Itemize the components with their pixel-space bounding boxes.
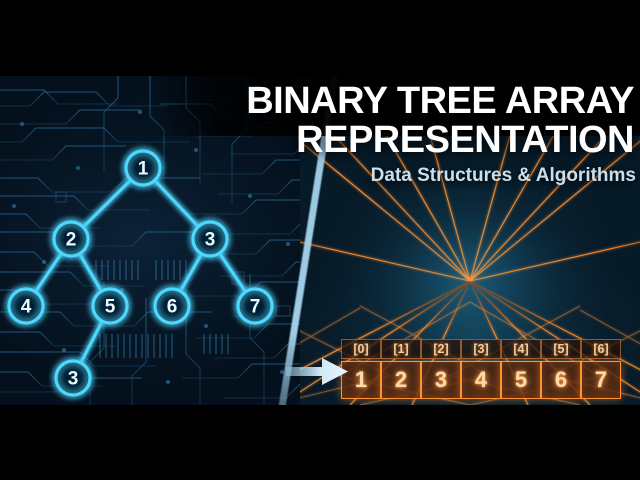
tree-node[interactable]: 4 bbox=[9, 289, 43, 323]
tree-edge bbox=[79, 253, 102, 292]
array-index-cell: [6] bbox=[581, 339, 621, 359]
page-title-line-2: REPRESENTATION bbox=[150, 121, 636, 160]
page-title-line-1: BINARY TREE ARRAY bbox=[150, 82, 636, 121]
title-block: BINARY TREE ARRAY REPRESENTATION Data St… bbox=[150, 82, 636, 188]
tree-edges bbox=[35, 179, 246, 364]
tree-node[interactable]: 7 bbox=[238, 289, 272, 323]
array-value-cell[interactable]: 6 bbox=[541, 361, 581, 399]
thumbnail-canvas: 12345673 bbox=[0, 0, 640, 480]
array-index-row: [0][1][2][3][4][5][6] bbox=[341, 339, 621, 359]
tree-node-label: 3 bbox=[205, 230, 216, 251]
right-arrow-icon bbox=[286, 354, 350, 388]
array-index-cell: [2] bbox=[421, 339, 461, 359]
tree-node-label: 6 bbox=[167, 297, 178, 318]
tree-edge bbox=[180, 253, 202, 292]
tree-node[interactable]: 6 bbox=[155, 289, 189, 323]
tree-node[interactable]: 3 bbox=[193, 222, 227, 256]
tree-edge bbox=[219, 252, 246, 292]
letterbox-top bbox=[0, 0, 640, 76]
tree-node-label: 2 bbox=[66, 230, 77, 251]
array-index-cell: [3] bbox=[461, 339, 501, 359]
array-value-cell[interactable]: 7 bbox=[581, 361, 621, 399]
tree-node[interactable]: 5 bbox=[93, 289, 127, 323]
array-value-cell[interactable]: 2 bbox=[381, 361, 421, 399]
tree-edge bbox=[35, 252, 62, 292]
page-subtitle: Data Structures & Algorithms bbox=[150, 164, 636, 188]
letterbox-bottom bbox=[0, 405, 640, 480]
tree-edge bbox=[82, 179, 131, 228]
tree-edge bbox=[80, 320, 102, 364]
array-index-cell: [1] bbox=[381, 339, 421, 359]
array-value-cell[interactable]: 4 bbox=[461, 361, 501, 399]
tree-node[interactable]: 2 bbox=[54, 222, 88, 256]
tree-node-label: 1 bbox=[138, 159, 149, 180]
array-index-cell: [5] bbox=[541, 339, 581, 359]
array-index-cell: [4] bbox=[501, 339, 541, 359]
array-value-cell[interactable]: 3 bbox=[421, 361, 461, 399]
array-value-row: 1234567 bbox=[341, 361, 621, 399]
tree-node[interactable]: 3 bbox=[56, 361, 90, 395]
array-value-cell[interactable]: 5 bbox=[501, 361, 541, 399]
array-representation: [0][1][2][3][4][5][6] 1234567 bbox=[341, 339, 621, 399]
tree-node-label: 7 bbox=[250, 297, 261, 318]
tree-node-label: 3 bbox=[68, 369, 79, 390]
tree-node-label: 5 bbox=[105, 297, 116, 318]
tree-node-label: 4 bbox=[21, 297, 32, 318]
